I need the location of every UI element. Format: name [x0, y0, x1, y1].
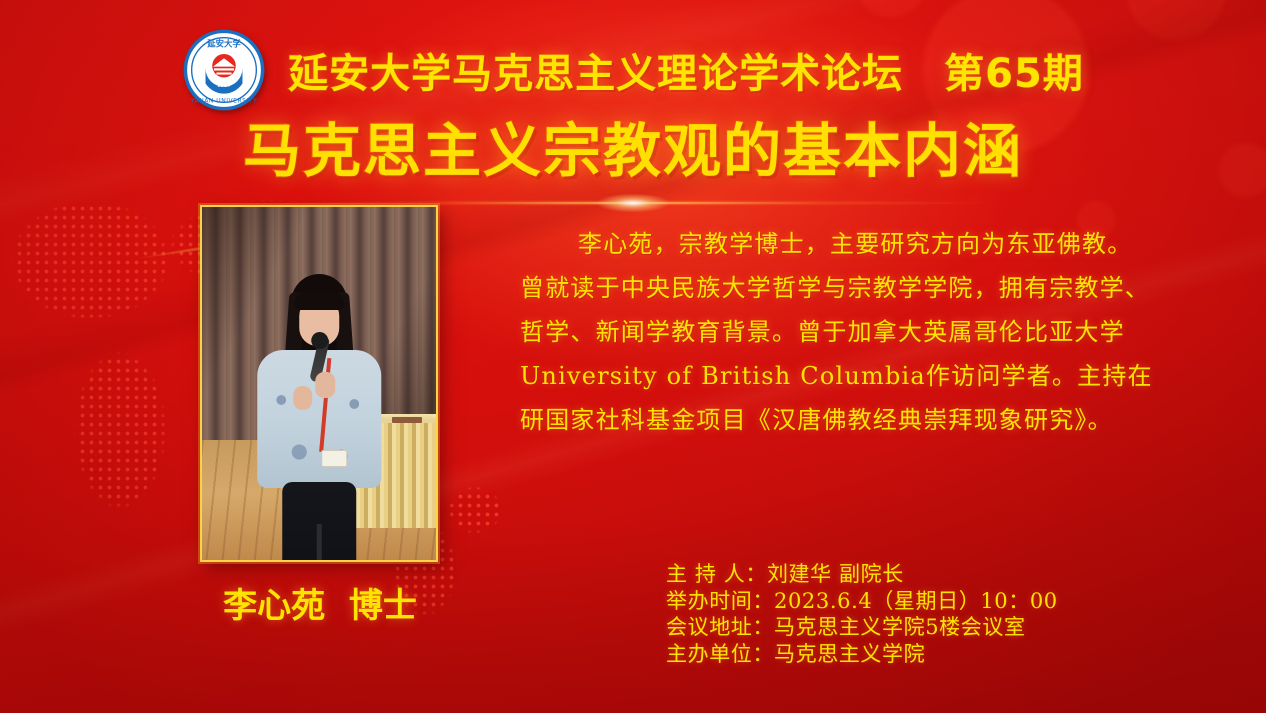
speaker-biography: 李心苑，宗教学博士，主要研究方向为东亚佛教。 曾就读于中央民族大学哲学与宗教学学…: [520, 222, 1210, 442]
event-details: 主 持 人：刘建华 副院长 举办时间：2023.6.4（星期日）10：00 会议…: [666, 561, 1058, 667]
bio-line: 哲学、新闻学教育背景。曾于加拿大英属哥伦比亚大学: [520, 310, 1210, 354]
yanan-university-logo-icon: 延安大学 1937 YANAN UNIVERSITY: [182, 28, 266, 112]
photo-speaker-name-badge: [321, 450, 347, 467]
photo-speaker-hand-right: [315, 372, 335, 398]
speaker-photo: [200, 205, 438, 562]
detail-host: 主 持 人：刘建华 副院长: [666, 561, 1058, 588]
bio-line: 曾就读于中央民族大学哲学与宗教学学院，拥有宗教学、: [520, 266, 1210, 310]
photo-speaker-pants-seam: [317, 524, 322, 562]
detail-location: 会议地址：马克思主义学院5楼会议室: [666, 614, 1058, 641]
forum-title: 延安大学马克思主义理论学术论坛 第65期: [288, 41, 1084, 99]
detail-time: 举办时间：2023.6.4（星期日）10：00: [666, 588, 1058, 615]
speaker-photo-image: [202, 207, 436, 560]
bio-line: 研国家社科基金项目《汉唐佛教经典崇拜现象研究》。: [520, 398, 1210, 442]
photo-speaker-figure: [231, 274, 407, 560]
bio-line: University of British Columbia作访问学者。主持在: [520, 354, 1210, 398]
photo-speaker-bangs: [294, 291, 344, 310]
svg-text:延安大学: 延安大学: [206, 38, 241, 48]
svg-text:1937: 1937: [217, 83, 231, 89]
bio-line: 李心苑，宗教学博士，主要研究方向为东亚佛教。: [520, 222, 1210, 266]
main-title: 马克思主义宗教观的基本内涵: [0, 104, 1266, 188]
poster-header: 延安大学 1937 YANAN UNIVERSITY 延安大学马克思主义理论学术…: [0, 28, 1266, 112]
poster-root: 延安大学 1937 YANAN UNIVERSITY 延安大学马克思主义理论学术…: [0, 0, 1266, 713]
detail-organizer: 主办单位：马克思主义学院: [666, 641, 1058, 668]
lens-flare-core-decoration: [573, 186, 693, 220]
speaker-name-caption: 李心苑 博士: [150, 578, 490, 627]
photo-speaker-hand-left: [293, 386, 312, 410]
